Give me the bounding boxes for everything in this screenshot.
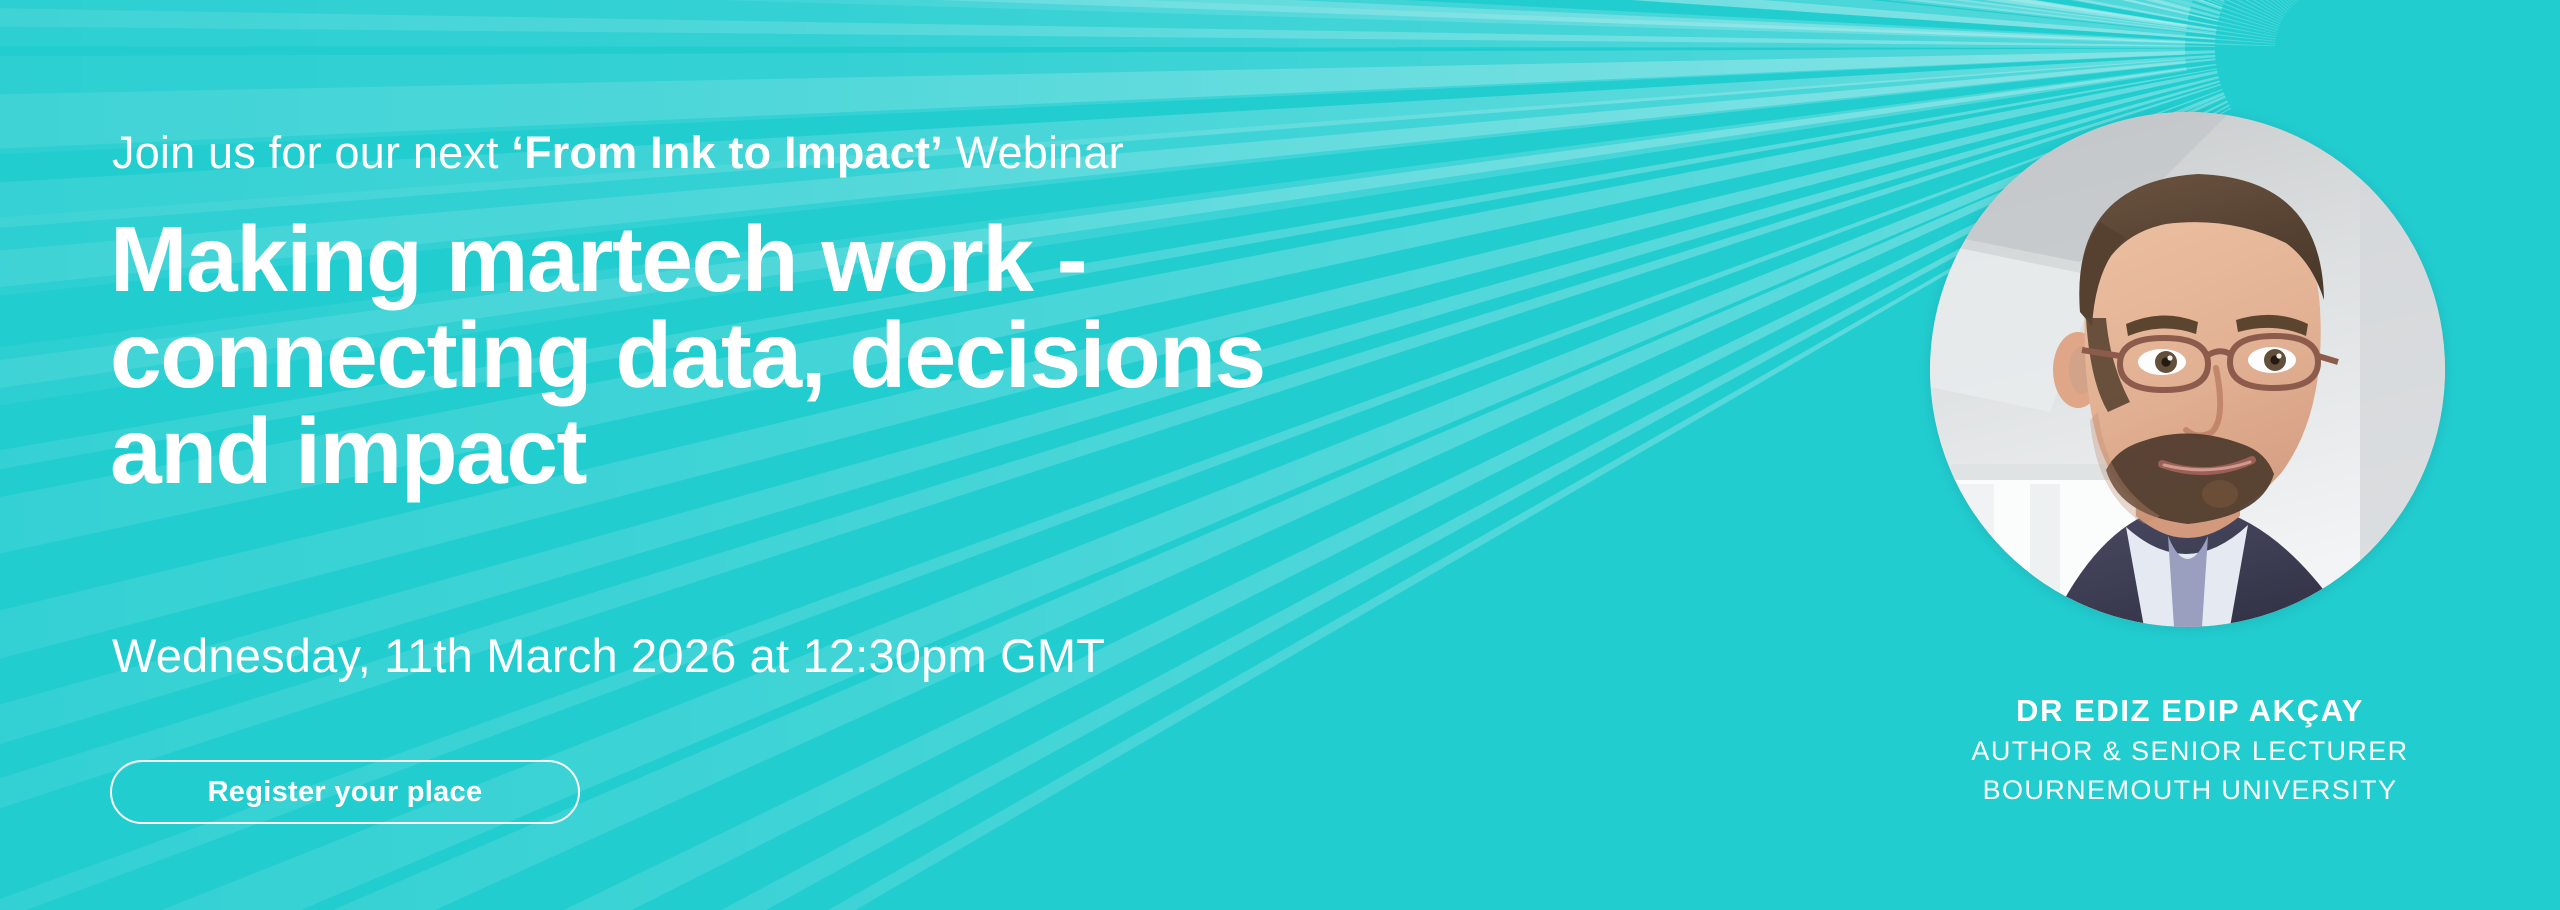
speaker-role: AUTHOR & SENIOR LECTURER <box>1880 732 2500 771</box>
speaker-organisation: BOURNEMOUTH UNIVERSITY <box>1880 771 2500 810</box>
page-title: Making martech work - connecting data, d… <box>110 212 1265 499</box>
headline-line-2: connecting data, decisions <box>110 308 1265 404</box>
headline-line-1: Making martech work - <box>110 212 1265 308</box>
register-button[interactable]: Register your place <box>110 760 580 824</box>
eyebrow-suffix: Webinar <box>943 127 1124 178</box>
event-datetime: Wednesday, 11th March 2026 at 12:30pm GM… <box>112 630 1105 682</box>
eyebrow-prefix: Join us for our next <box>112 127 511 178</box>
eyebrow-line: Join us for our next ‘From Ink to Impact… <box>112 128 1124 178</box>
speaker-block: DR EDIZ EDIP AKÇAY AUTHOR & SENIOR LECTU… <box>1880 0 2500 910</box>
headline-line-3: and impact <box>110 404 1265 500</box>
speaker-name: DR EDIZ EDIP AKÇAY <box>1880 690 2500 732</box>
portrait-photo-illustration <box>1930 112 2445 627</box>
speaker-details: DR EDIZ EDIP AKÇAY AUTHOR & SENIOR LECTU… <box>1880 690 2500 810</box>
webinar-promo-banner: Join us for our next ‘From Ink to Impact… <box>0 0 2560 910</box>
speaker-avatar <box>1930 112 2445 627</box>
eyebrow-series-title: ‘From Ink to Impact’ <box>511 127 943 178</box>
